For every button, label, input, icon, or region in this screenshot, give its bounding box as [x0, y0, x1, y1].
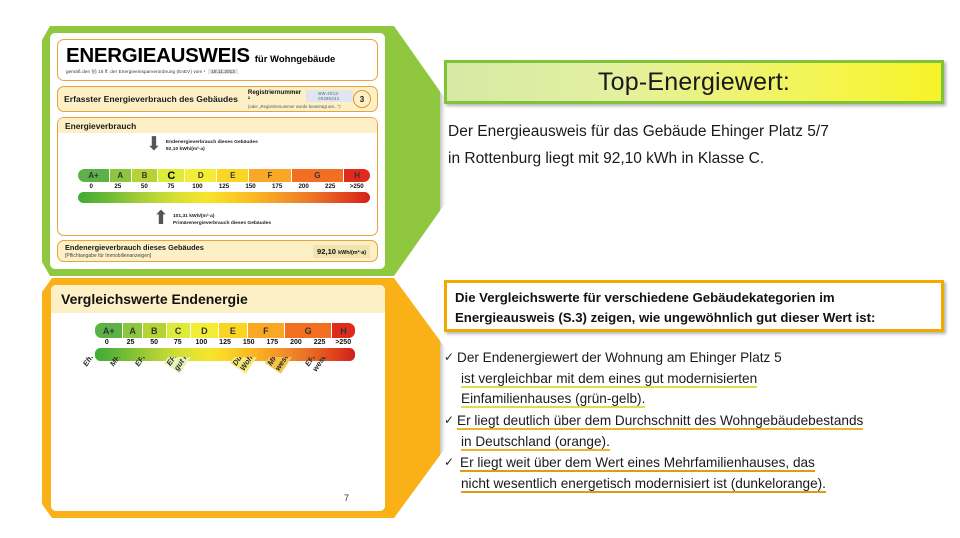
eaw-scale-class-bar: A+ A B C D E F G H: [78, 169, 370, 182]
vgl-tick-225: 225: [308, 339, 332, 346]
vgl-tick-0: 0: [95, 339, 119, 346]
vgl-scale-class-g: G: [285, 323, 332, 338]
check-icon: ✓: [444, 453, 457, 471]
eaw-registration-number-label: Registriernummer ²: [248, 89, 301, 103]
eaw-scale-class-d: D: [185, 169, 217, 182]
top-energiewert-paragraph: Der Energieausweis für das Gebäude Ehing…: [448, 118, 948, 172]
vergleichswerte-page-number: 7: [344, 493, 349, 503]
vgl-tick-100: 100: [190, 339, 214, 346]
vgl-scale-class-h: H: [332, 323, 355, 338]
vgl-scale-class-b: B: [143, 323, 167, 338]
eaw-top-marker-line2: 92,10 kWh/(m²·a): [166, 146, 258, 153]
vgl-tick-175: 175: [260, 339, 284, 346]
vgl-scale-class-a-plus: A+: [95, 323, 123, 338]
eaw-bottom-marker-note: ⬆ 101,31 kWh/(m²·a) Primärenergieverbrau…: [153, 211, 271, 227]
eaw-title-main: ENERGIEAUSWEIS: [66, 46, 250, 67]
list-item: ✓ Er liegt weit über dem Wert eines Mehr…: [444, 453, 952, 494]
vgl-scale-class-d: D: [191, 323, 219, 338]
vergleichswerte-category-labels: Effizienzhaus 40 MFH Neubau EFH Neubau E…: [51, 357, 385, 507]
eaw-consumption-box: Energieverbrauch ⬇ Endenergieverbrauch d…: [57, 117, 378, 236]
eaw-scale-class-e: E: [217, 169, 249, 182]
eaw-tick-0: 0: [78, 183, 105, 190]
eaw-scale-class-g: G: [292, 169, 345, 182]
eaw-top-marker-text: Endenergieverbrauch dieses Gebäudes 92,1…: [166, 137, 258, 153]
eaw-title-row: ENERGIEAUSWEIS für Wohngebäude: [66, 46, 369, 67]
eaw-endenergy-subtitle: [Pflichtangabe für Immobilienanzeigen]: [65, 253, 313, 259]
eaw-consumption-heading: Energieverbrauch: [58, 118, 377, 133]
check-icon: ✓: [444, 348, 457, 366]
vgl-tick-50: 50: [142, 339, 166, 346]
bullet-3-body: Er liegt weit über dem Wert eines Mehrfa…: [457, 453, 952, 494]
eaw-tick-100: 100: [184, 183, 211, 190]
top-energiewert-paragraph-line1: Der Energieausweis für das Gebäude Ehing…: [448, 118, 948, 145]
eaw-tick-150: 150: [237, 183, 264, 190]
arrow-down-icon: ⬇: [146, 137, 162, 152]
eaw-endenergy-title: Endenergieverbrauch dieses Gebäudes: [65, 243, 313, 252]
list-item: ✓ Der Endenergiewert der Wohnung am Ehin…: [444, 348, 952, 410]
eaw-scale-class-f: F: [249, 169, 291, 182]
eaw-scale-class-a-plus: A+: [78, 169, 110, 182]
arrow-up-icon: ⬆: [153, 211, 169, 226]
vgl-tick-200: 200: [284, 339, 308, 346]
eaw-top-marker-line1: Endenergieverbrauch dieses Gebäudes: [166, 139, 258, 146]
list-item: ✓ Er liegt deutlich über dem Durchschnit…: [444, 411, 952, 452]
eaw-scale-class-b: B: [132, 169, 159, 182]
eaw-tick-125: 125: [211, 183, 238, 190]
eaw-tick-200: 200: [290, 183, 317, 190]
eaw-registration-number-row: Registriernummer ² BW-2013-00286243: [248, 89, 353, 103]
eaw-tick-175: 175: [264, 183, 291, 190]
bullet-1-line2: ist vergleichbar mit dem eines gut moder…: [461, 371, 757, 388]
bullet-3-line2: nicht wesentlich energetisch modernisier…: [461, 476, 826, 493]
vgl-tick-150: 150: [237, 339, 261, 346]
vergleichswerte-header-box: Die Vergleichswerte für verschiedene Geb…: [444, 280, 944, 332]
top-energiewert-paragraph-line2: in Rottenburg liegt mit 92,10 kWh in Kla…: [448, 145, 948, 172]
vgl-tick-250: >250: [331, 339, 355, 346]
eaw-bottom-marker-line1: 101,31 kWh/(m²·a): [173, 213, 271, 220]
vgl-label-efh-neubau: EFH Neubau: [133, 357, 166, 368]
vgl-tick-25: 25: [119, 339, 143, 346]
eaw-endenergy-unit: kWh/(m²·a): [338, 250, 366, 256]
bullet-1-body: Der Endenergiewert der Wohnung am Ehinge…: [457, 348, 952, 410]
eaw-scale-class-h: H: [344, 169, 370, 182]
bullet-3-line1: Er liegt weit über dem Wert eines Mehrfa…: [460, 455, 815, 472]
eaw-tick-250: >250: [343, 183, 370, 190]
eaw-endenergy-summary: Endenergieverbrauch dieses Gebäudes [Pfl…: [57, 240, 378, 262]
eaw-scale-ticks: 0 25 50 75 100 125 150 175 200 225 >250: [78, 183, 370, 190]
vgl-scale-ticks: 0 25 50 75 100 125 150 175 200 225 >250: [95, 339, 355, 346]
vgl-scale-class-bar: A+ A B C D E F G H: [95, 323, 355, 338]
eaw-bottom-marker-text: 101,31 kWh/(m²·a) Primärenergieverbrauch…: [173, 211, 271, 227]
eaw-registration-note: (oder „Registriernummer wurde beantragt …: [248, 104, 353, 109]
vergleichswerte-header-line2: Energieausweis (S.3) zeigen, wie ungewöh…: [455, 308, 933, 328]
eaw-energy-scale: A+ A B C D E F G H 0 25 50 75 100 125: [78, 169, 370, 203]
energieausweis-document: ENERGIEAUSWEIS für Wohngebäude gemäß den…: [50, 33, 385, 269]
eaw-scale-class-c: C: [158, 169, 185, 182]
check-icon: ✓: [444, 411, 457, 429]
vgl-tick-125: 125: [213, 339, 237, 346]
eaw-tick-75: 75: [158, 183, 185, 190]
vgl-scale-class-f: F: [248, 323, 286, 338]
vergleichswerte-header-line1: Die Vergleichswerte für verschiedene Geb…: [455, 288, 933, 308]
eaw-registration-middle: Registriernummer ² BW-2013-00286243 (ode…: [248, 89, 353, 109]
eaw-scale-area: ⬇ Endenergieverbrauch dieses Gebäudes 92…: [58, 133, 377, 237]
vgl-label-efh-nicht-modernisiert: EFH energetisch nichtwesentlich modernis…: [303, 357, 367, 374]
eaw-registration-number-value: BW-2013-00286243: [306, 90, 353, 102]
eaw-bottom-marker-line2: Primärenergieverbrauch dieses Gebäudes: [173, 220, 271, 227]
top-energiewert-header-box: Top-Energiewert:: [444, 60, 944, 104]
eaw-endenergy-labels: Endenergieverbrauch dieses Gebäudes [Pfl…: [65, 243, 313, 259]
eaw-scale-class-a: A: [110, 169, 132, 182]
eaw-scale-gradient-bar: [78, 192, 370, 203]
vergleichswerte-heading: Vergleichswerte Endenergie: [51, 285, 385, 313]
eaw-legal-line: gemäß den §§ 16 ff. der Energieeinsparve…: [66, 69, 369, 74]
eaw-page-badge: 3: [353, 90, 371, 108]
eaw-tick-225: 225: [317, 183, 344, 190]
bullet-2-line1: Er liegt deutlich über dem Durchschnitt …: [457, 413, 863, 430]
vgl-scale-class-e: E: [219, 323, 247, 338]
bullet-2-line2: in Deutschland (orange).: [461, 434, 610, 451]
conclusion-bullet-list: ✓ Der Endenergiewert der Wohnung am Ehin…: [444, 348, 952, 496]
eaw-legal-text: gemäß den §§ 16 ff. der Energieeinsparve…: [66, 69, 205, 74]
vergleichswerte-energy-scale: A+ A B C D E F G H 0 25 50 75 100 125 15…: [95, 323, 355, 361]
bullet-2-body: Er liegt deutlich über dem Durchschnitt …: [457, 411, 952, 452]
vgl-scale-class-a: A: [123, 323, 142, 338]
vgl-label-efh-gut-modernisiert: EFH energetischgut modernisiert: [164, 357, 214, 374]
eaw-endenergy-value: 92,10: [317, 247, 338, 256]
vergleichswerte-header-text: Die Vergleichswerte für verschiedene Geb…: [455, 288, 933, 329]
eaw-tick-25: 25: [105, 183, 132, 190]
bullet-1-line1: Der Endenergiewert der Wohnung am Ehinge…: [457, 348, 952, 369]
eaw-top-marker-note: ⬇ Endenergieverbrauch dieses Gebäudes 92…: [146, 137, 258, 153]
bullet-1-line3: Einfamilienhauses (grün-gelb).: [461, 391, 645, 408]
eaw-title-box: ENERGIEAUSWEIS für Wohngebäude gemäß den…: [57, 39, 378, 81]
eaw-legal-date: 18.11.2013: [208, 69, 238, 74]
vgl-tick-75: 75: [166, 339, 190, 346]
eaw-registration-row: Erfasster Energieverbrauch des Gebäudes …: [57, 86, 378, 112]
eaw-endenergy-value-box: 92,10 kWh/(m²·a): [313, 245, 370, 258]
eaw-title-subtitle: für Wohngebäude: [255, 54, 336, 65]
vergleichswerte-document: Vergleichswerte Endenergie A+ A B C D E …: [51, 285, 385, 511]
eaw-registration-label: Erfasster Energieverbrauch des Gebäudes: [64, 94, 238, 104]
top-energiewert-title: Top-Energiewert:: [598, 68, 790, 97]
vgl-scale-class-c: C: [167, 323, 191, 338]
eaw-tick-50: 50: [131, 183, 158, 190]
